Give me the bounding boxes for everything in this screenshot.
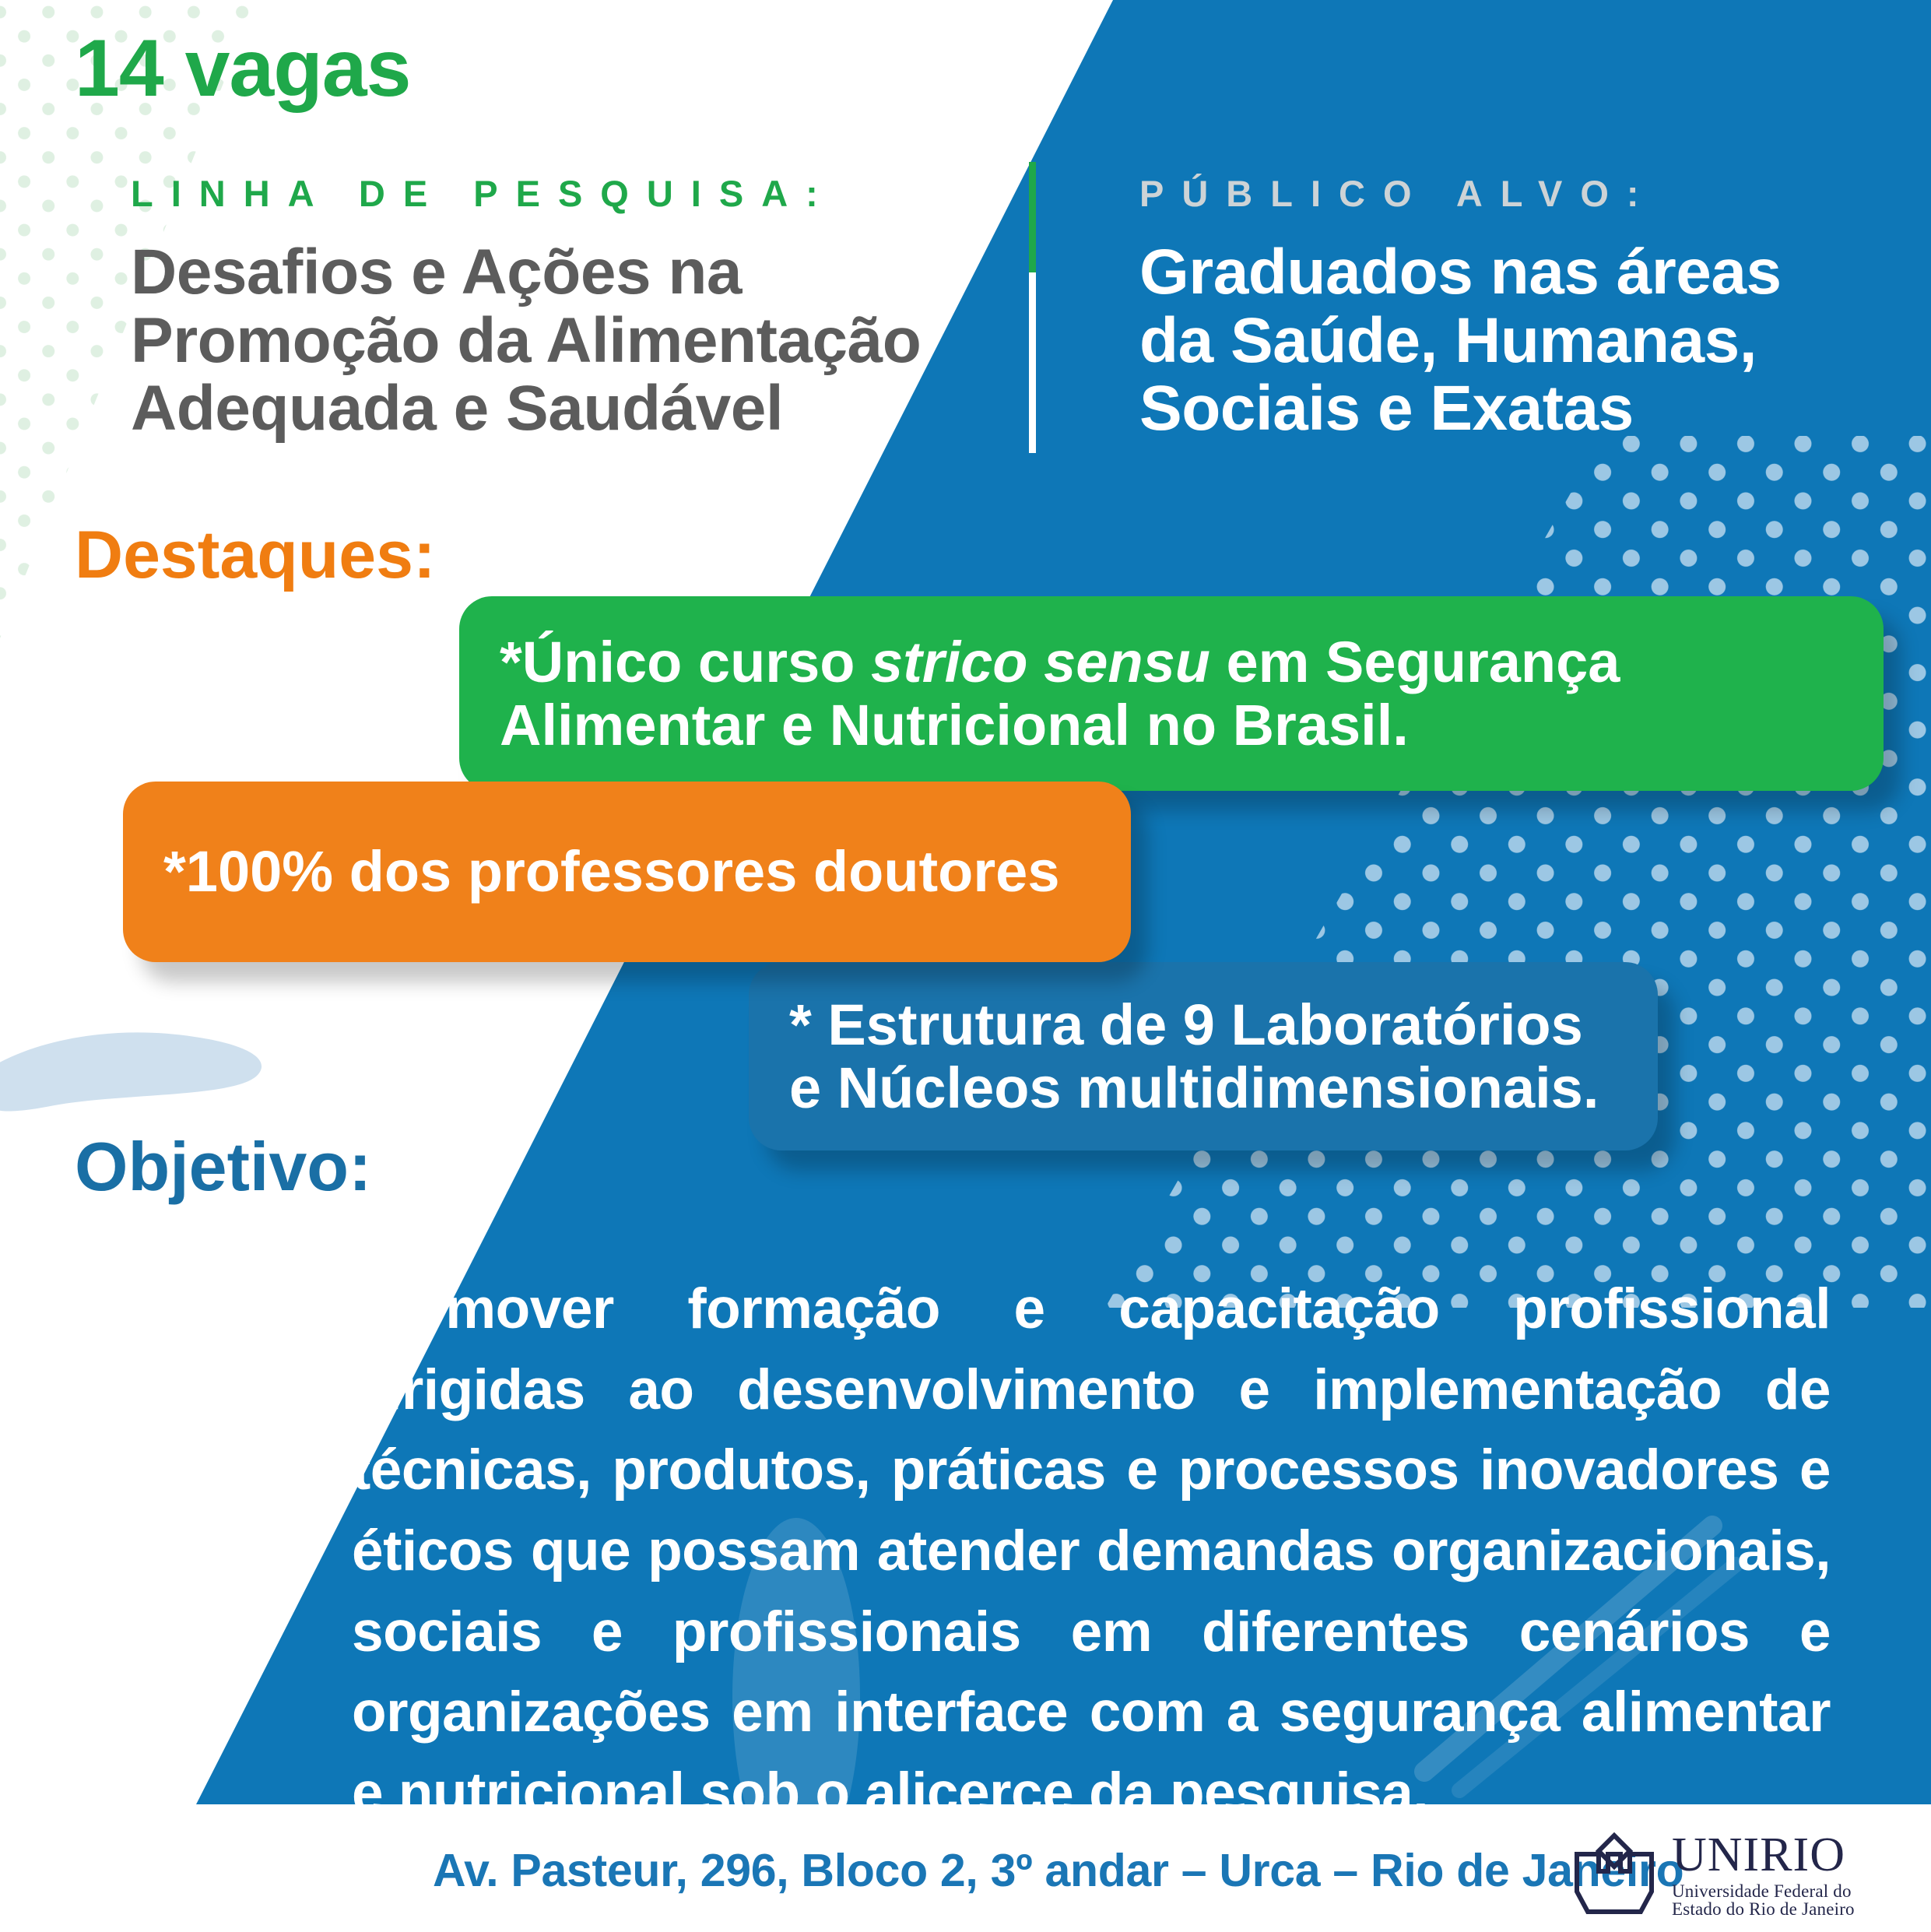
highlight-text-prefix: *Único curso: [500, 630, 871, 694]
divider-white: [1029, 272, 1036, 453]
objective-body: Promover formação e capacitação profissi…: [352, 1269, 1831, 1834]
highlight-card-laboratorios: * Estrutura de 9 Laboratórios e Núcleos …: [749, 962, 1658, 1150]
unirio-subtitle-line1: Universidade Federal do: [1672, 1882, 1855, 1900]
vacancies-count: 14 vagas: [75, 28, 410, 109]
unirio-subtitle-line2: Estado do Rio de Janeiro: [1672, 1900, 1855, 1918]
poster-canvas: 14 vagas LINHA DE PESQUISA: Desafios e A…: [0, 0, 1931, 1932]
address-line: Av. Pasteur, 296, Bloco 2, 3º andar – Ur…: [433, 1844, 1683, 1897]
research-line-kicker: LINHA DE PESQUISA:: [131, 175, 836, 212]
unirio-logo-text: UNIRIO Universidade Federal do Estado do…: [1672, 1831, 1855, 1918]
highlight-text-italic: strico sensu: [871, 630, 1210, 694]
target-audience-kicker: PÚBLICO ALVO:: [1139, 175, 1657, 212]
highlight-text: * Estrutura de 9 Laboratórios e Núcleos …: [789, 993, 1617, 1120]
divider-green: [1029, 162, 1036, 272]
highlight-card-professores-doutores: *100% dos professores doutores: [123, 782, 1131, 962]
highlight-card-unico-curso: *Único curso strico sensu em Segurança A…: [459, 596, 1884, 791]
unirio-emblem-icon: [1569, 1831, 1659, 1918]
objective-heading: Objetivo:: [75, 1133, 371, 1201]
highlight-text: *100% dos professores doutores: [163, 840, 1059, 903]
unirio-logo: UNIRIO Universidade Federal do Estado do…: [1569, 1831, 1855, 1918]
highlights-heading: Destaques:: [75, 522, 436, 588]
unirio-wordmark: UNIRIO: [1672, 1831, 1855, 1879]
target-audience-title: Graduados nas áreas da Saúde, Humanas, S…: [1139, 238, 1863, 443]
research-line-title: Desafios e Ações na Promoção da Alimenta…: [131, 238, 940, 443]
